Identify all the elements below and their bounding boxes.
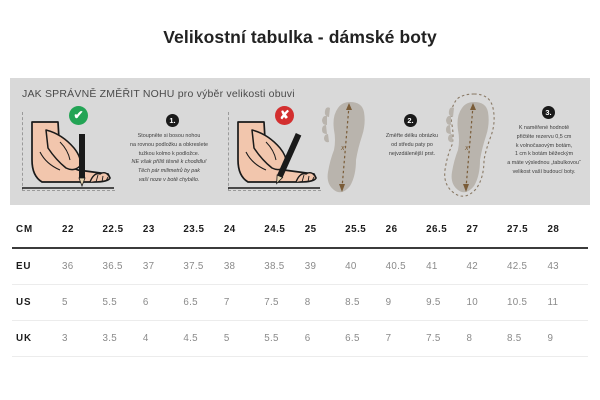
step-2-line-2: od středu paty po xyxy=(364,141,460,150)
panel-heading-bold: JAK SPRÁVNĚ ZMĚŘIT NOHU xyxy=(22,88,175,100)
step-3-line-3: k volnočasovým botám, xyxy=(490,142,590,151)
step-1-line-5: Těch pár milimetrů by pak xyxy=(106,167,232,176)
cell-uk-5: 5.5 xyxy=(264,321,304,357)
cell-eu-6: 39 xyxy=(305,248,345,285)
cell-eu-8: 40.5 xyxy=(386,248,426,285)
page-title: Velikostní tabulka - dámské boty xyxy=(0,0,600,53)
cell-eu-3: 37.5 xyxy=(183,248,223,285)
cell-uk-11: 8.5 xyxy=(507,321,547,357)
check-icon: ✔ xyxy=(69,106,88,125)
footprint-reserve-center-mark: x xyxy=(465,145,469,152)
step-1-badge: 1. xyxy=(166,114,179,127)
cell-us-3: 6.5 xyxy=(183,285,223,321)
cell-us-7: 8.5 xyxy=(345,285,385,321)
size-table-container: CM 22 22.5 23 23.5 24 24.5 25 25.5 26 26… xyxy=(12,212,588,357)
cell-cm-0: 22 xyxy=(62,212,102,248)
step-1-line-6: vaší noze v botě chybělo. xyxy=(106,176,232,185)
cell-eu-0: 36 xyxy=(62,248,102,285)
cell-cm-4: 24 xyxy=(224,212,264,248)
cell-cm-3: 23.5 xyxy=(183,212,223,248)
cell-us-0: 5 xyxy=(62,285,102,321)
footprint-center-mark: x xyxy=(341,145,345,152)
step-1-text: Stoupněte si bosou nohou na rovnou podlo… xyxy=(106,132,232,185)
step-2-text: Změřte délku obrázku od středu paty po n… xyxy=(364,132,460,158)
cell-eu-4: 38 xyxy=(224,248,264,285)
size-chart-page: Velikostní tabulka - dámské boty JAK SPR… xyxy=(0,0,600,400)
step-3-line-4: 1 cm k botám běžeckým xyxy=(490,150,590,159)
cell-uk-7: 6.5 xyxy=(345,321,385,357)
panel-heading-rest: pro výběr velikosti obuvi xyxy=(175,88,295,100)
cell-us-8: 9 xyxy=(386,285,426,321)
cell-eu-1: 36.5 xyxy=(102,248,142,285)
cell-cm-7: 25.5 xyxy=(345,212,385,248)
step-3-badge: 3. xyxy=(542,106,555,119)
cell-cm-11: 27.5 xyxy=(507,212,547,248)
illustration-wrong-measurement: ✘ xyxy=(222,108,326,198)
cell-cm-2: 23 xyxy=(143,212,183,248)
cell-uk-9: 7.5 xyxy=(426,321,466,357)
row-label-us: US xyxy=(12,285,62,321)
cell-cm-9: 26.5 xyxy=(426,212,466,248)
cell-cm-1: 22.5 xyxy=(102,212,142,248)
step-3-line-6: velikost vaší budoucí boty. xyxy=(490,168,590,177)
cell-uk-0: 3 xyxy=(62,321,102,357)
cell-us-9: 9.5 xyxy=(426,285,466,321)
cell-cm-6: 25 xyxy=(305,212,345,248)
cell-uk-2: 4 xyxy=(143,321,183,357)
table-row-cm: CM 22 22.5 23 23.5 24 24.5 25 25.5 26 26… xyxy=(12,212,588,248)
cell-eu-11: 42.5 xyxy=(507,248,547,285)
cell-eu-7: 40 xyxy=(345,248,385,285)
cell-cm-8: 26 xyxy=(386,212,426,248)
step-1-line-4: NE však příliš těsně k chodidlu! xyxy=(106,158,232,167)
cell-uk-6: 6 xyxy=(305,321,345,357)
cell-cm-12: 28 xyxy=(547,212,588,248)
cell-us-10: 10 xyxy=(467,285,507,321)
cell-eu-2: 37 xyxy=(143,248,183,285)
table-row-uk: UK 3 3.5 4 4.5 5 5.5 6 6.5 7 7.5 8 8.5 9 xyxy=(12,321,588,357)
cell-eu-12: 43 xyxy=(547,248,588,285)
cell-us-1: 5.5 xyxy=(102,285,142,321)
step-3-line-1: K naměřené hodnotě xyxy=(490,124,590,133)
step-3-line-2: přičtěte rezervu 0,5 cm xyxy=(490,133,590,142)
cell-us-11: 10.5 xyxy=(507,285,547,321)
cell-eu-10: 42 xyxy=(467,248,507,285)
cell-us-2: 6 xyxy=(143,285,183,321)
step-1-line-1: Stoupněte si bosou nohou xyxy=(106,132,232,141)
step-2-line-3: nejvzdálenější prst. xyxy=(364,150,460,159)
table-row-us: US 5 5.5 6 6.5 7 7.5 8 8.5 9 9.5 10 10.5… xyxy=(12,285,588,321)
cell-eu-9: 41 xyxy=(426,248,466,285)
measurement-instructions-panel: JAK SPRÁVNĚ ZMĚŘIT NOHU pro výběr veliko… xyxy=(10,78,590,205)
cell-uk-4: 5 xyxy=(224,321,264,357)
cell-eu-5: 38.5 xyxy=(264,248,304,285)
step-1-line-2: na rovnou podložku a obkreslete xyxy=(106,141,232,150)
cell-us-4: 7 xyxy=(224,285,264,321)
cross-icon: ✘ xyxy=(275,106,294,125)
step-3-line-5: a máte výslednou „tabulkovou“ xyxy=(490,159,590,168)
panel-heading: JAK SPRÁVNĚ ZMĚŘIT NOHU pro výběr veliko… xyxy=(22,88,295,100)
step-2-line-1: Změřte délku obrázku xyxy=(364,132,460,141)
foot-side-view-correct xyxy=(16,108,120,198)
size-conversion-table: CM 22 22.5 23 23.5 24 24.5 25 25.5 26 26… xyxy=(12,212,588,357)
step-1-line-3: tužkou kolmo k podložce. xyxy=(106,150,232,159)
step-2-badge: 2. xyxy=(404,114,417,127)
row-label-cm: CM xyxy=(12,212,62,248)
cell-us-6: 8 xyxy=(305,285,345,321)
row-label-uk: UK xyxy=(12,321,62,357)
cell-us-12: 11 xyxy=(547,285,588,321)
illustration-correct-measurement: ✔ xyxy=(16,108,120,198)
cell-cm-10: 27 xyxy=(467,212,507,248)
table-row-eu: EU 36 36.5 37 37.5 38 38.5 39 40 40.5 41… xyxy=(12,248,588,285)
cell-uk-3: 4.5 xyxy=(183,321,223,357)
foot-side-view-wrong xyxy=(222,108,326,198)
cell-uk-8: 7 xyxy=(386,321,426,357)
cell-uk-12: 9 xyxy=(547,321,588,357)
cell-cm-5: 24.5 xyxy=(264,212,304,248)
cell-us-5: 7.5 xyxy=(264,285,304,321)
cell-uk-1: 3.5 xyxy=(102,321,142,357)
step-3-text: K naměřené hodnotě přičtěte rezervu 0,5 … xyxy=(490,124,590,177)
row-label-eu: EU xyxy=(12,248,62,285)
cell-uk-10: 8 xyxy=(467,321,507,357)
